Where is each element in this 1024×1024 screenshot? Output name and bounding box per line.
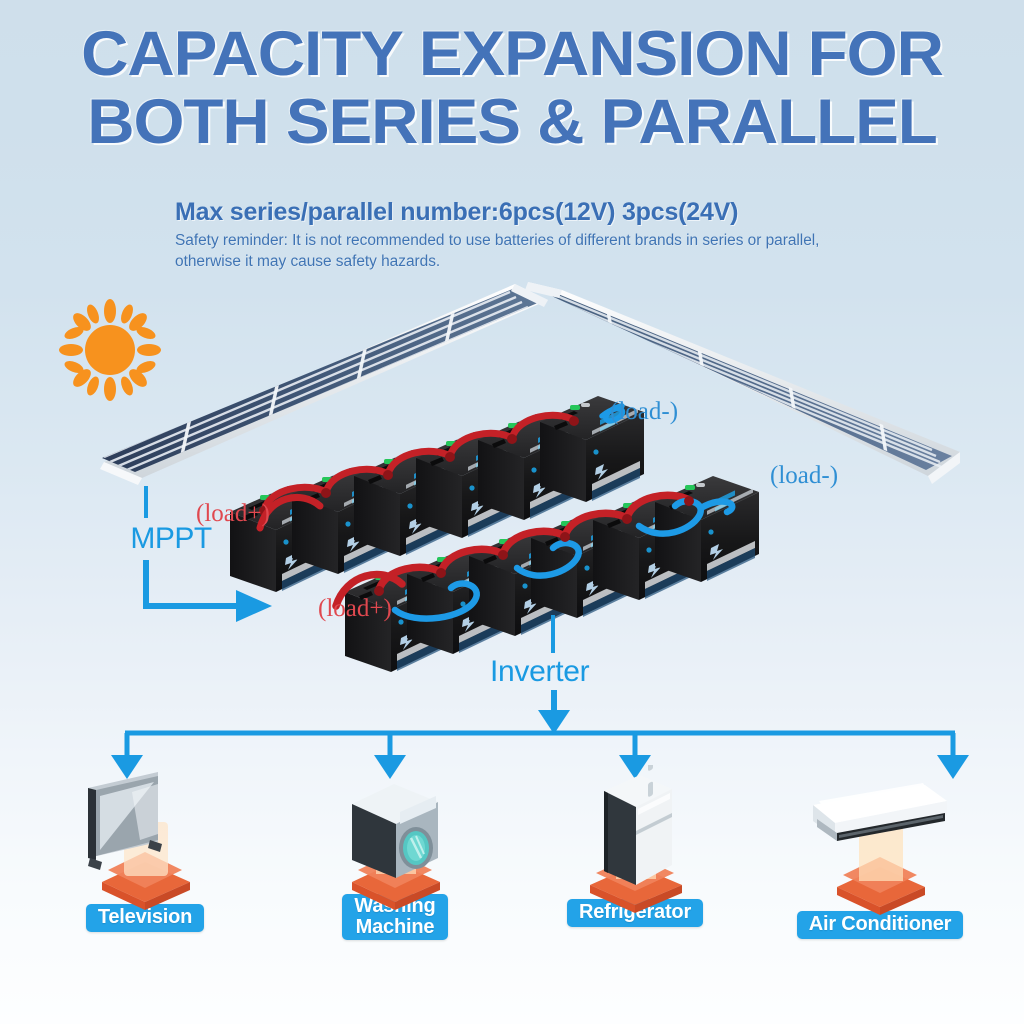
mppt-arrow <box>136 560 296 630</box>
air-conditioner-label: Air Conditioner <box>797 911 964 939</box>
title-line-1: CAPACITY EXPANSION FOR <box>0 24 1024 84</box>
battery-bank-bottom-row <box>345 450 965 700</box>
safety-reminder-line-2: otherwise it may cause safety hazards. <box>175 253 975 271</box>
load-positive-label-lower: (load+) <box>318 595 392 623</box>
mppt-stem <box>144 486 148 518</box>
appliance-washing-machine[interactable]: Washing Machine <box>290 770 500 940</box>
subtitle-block: Max series/parallel number:6pcs(12V) 3pc… <box>175 198 975 271</box>
appliance-refrigerator[interactable]: Refrigerator <box>530 765 740 927</box>
max-series-parallel-text: Max series/parallel number:6pcs(12V) 3pc… <box>175 198 975 227</box>
infographic-canvas: CAPACITY EXPANSION FOR BOTH SERIES & PAR… <box>0 0 1024 1024</box>
title-line-2: BOTH SERIES & PARALLEL <box>0 92 1024 152</box>
page-title: CAPACITY EXPANSION FOR BOTH SERIES & PAR… <box>0 24 1024 153</box>
inverter-label: Inverter <box>490 655 589 689</box>
washing-machine-label-line2: Machine <box>356 916 435 938</box>
load-negative-label-lower: (load-) <box>770 462 838 490</box>
load-positive-label-upper: (load+) <box>196 500 270 528</box>
refrigerator-icon <box>530 765 740 905</box>
air-conditioner-icon <box>775 775 985 915</box>
load-negative-label-upper: (load-) <box>610 398 678 426</box>
safety-reminder-line-1: Safety reminder: It is not recommended t… <box>175 232 975 250</box>
inverter-stem <box>551 615 555 653</box>
appliance-television[interactable]: Television <box>40 770 250 932</box>
television-icon <box>40 770 250 910</box>
appliance-air-conditioner[interactable]: Air Conditioner <box>775 775 985 939</box>
washing-machine-icon <box>290 770 500 910</box>
